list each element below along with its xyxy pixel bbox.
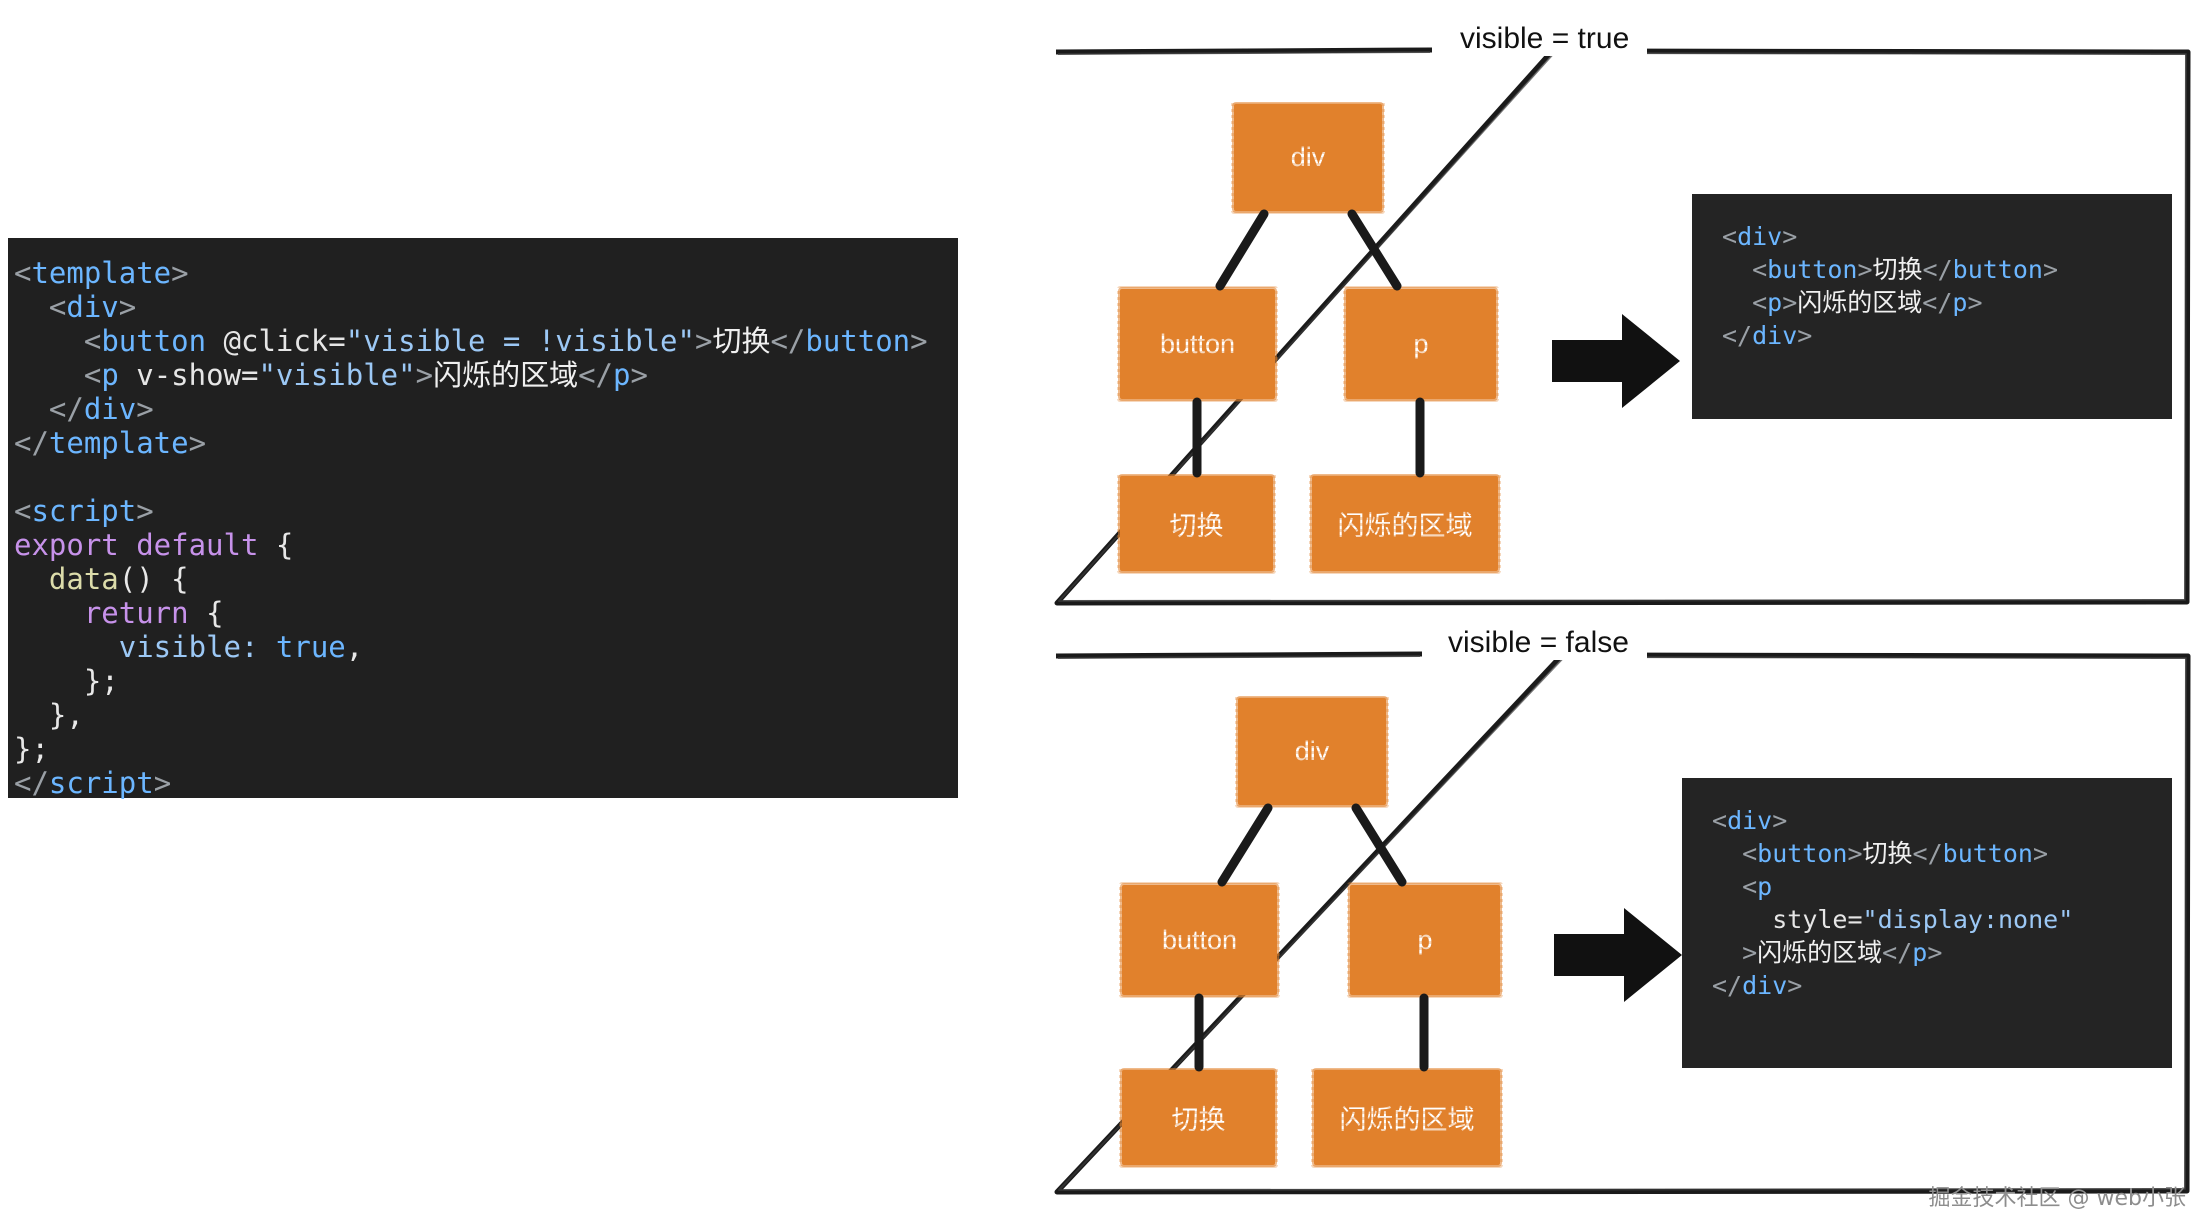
code-token: > <box>695 324 712 358</box>
code-token: "visible" <box>258 358 415 392</box>
code-token: < <box>1712 872 1757 901</box>
code-token: script <box>31 494 136 528</box>
source-code-block: <template> <div> <button @click="visible… <box>8 238 958 798</box>
code-token <box>14 562 49 596</box>
code-line: <div> <box>1712 804 2142 837</box>
code-token: > <box>119 290 136 324</box>
code-token: > <box>1967 288 1982 317</box>
tree-leaf-blink-true: 闪烁的区域 <box>1312 476 1498 571</box>
code-token: < <box>14 324 101 358</box>
code-line: <p>闪烁的区域</p> <box>1722 286 2142 319</box>
code-line: <p <box>1712 870 2142 903</box>
code-token: { <box>189 596 224 630</box>
code-line: }, <box>14 698 938 732</box>
code-token: </ <box>1722 321 1752 350</box>
code-token: template <box>31 256 171 290</box>
watermark: 掘金技术社区 @ web小张 <box>1929 1180 2186 1212</box>
code-token: > <box>1782 288 1797 317</box>
code-line: data() { <box>14 562 938 596</box>
code-token: 切换 <box>712 324 770 358</box>
code-token <box>119 358 136 392</box>
code-token: p <box>1767 288 1782 317</box>
code-token: data <box>49 562 119 596</box>
tree-node-button-true: button <box>1120 289 1275 399</box>
code-token: 切换 <box>1873 255 1923 284</box>
code-token: < <box>14 290 66 324</box>
code-token: }; <box>14 732 49 766</box>
code-token: return <box>84 596 189 630</box>
panel-legend-true: visible = true <box>1442 22 1647 56</box>
code-line: <button @click="visible = !visible">切换</… <box>14 324 938 358</box>
code-token: button <box>805 324 910 358</box>
code-token: > <box>136 494 153 528</box>
code-token: > <box>154 766 171 800</box>
code-token: > <box>1847 839 1862 868</box>
flow-arrow-true <box>1552 306 1682 416</box>
code-line: <button>切换</button> <box>1722 253 2142 286</box>
code-token: "display:none" <box>1863 905 2074 934</box>
code-token: > <box>1712 938 1757 967</box>
code-line: <button>切换</button> <box>1712 837 2142 870</box>
code-token: > <box>1782 222 1797 251</box>
code-line: </div> <box>14 392 938 426</box>
code-token: > <box>2033 839 2048 868</box>
code-token: < <box>14 494 31 528</box>
code-token: > <box>136 392 153 426</box>
code-line <box>14 460 938 494</box>
code-token <box>1712 905 1772 934</box>
result-code-true: <div> <button>切换</button> <p>闪烁的区域</p></… <box>1692 194 2172 419</box>
code-token: </ <box>770 324 805 358</box>
code-token: p <box>1757 872 1772 901</box>
panel-legend-false: visible = false <box>1430 626 1647 660</box>
code-token: script <box>49 766 154 800</box>
code-line: </template> <box>14 426 938 460</box>
code-token: button <box>101 324 206 358</box>
code-token: > <box>1927 938 1942 967</box>
code-line: >闪烁的区域</p> <box>1712 936 2142 969</box>
code-token: > <box>2043 255 2058 284</box>
code-token: div <box>84 392 136 426</box>
code-token: > <box>1857 255 1872 284</box>
code-line: </script> <box>14 766 938 800</box>
code-token: div <box>1742 971 1787 1000</box>
code-token: </ <box>1712 971 1742 1000</box>
code-token: }, <box>14 698 84 732</box>
code-token: 闪烁的区域 <box>1797 288 1922 317</box>
code-token: 切换 <box>1863 839 1913 868</box>
tree-node-p-true: p <box>1346 289 1496 399</box>
code-line: </div> <box>1722 319 2142 352</box>
code-token: button <box>1767 255 1857 284</box>
code-token: > <box>910 324 927 358</box>
code-line: export default { <box>14 528 938 562</box>
code-token: div <box>66 290 118 324</box>
code-token: true <box>276 630 346 664</box>
code-token <box>14 630 119 664</box>
code-token: </ <box>1923 255 1953 284</box>
code-token: </ <box>1913 839 1943 868</box>
code-token: < <box>14 256 31 290</box>
tree-leaf-toggle-false: 切换 <box>1122 1070 1275 1165</box>
code-token: visible: <box>119 630 259 664</box>
code-token: < <box>1712 839 1757 868</box>
code-token: > <box>416 358 433 392</box>
code-token: , <box>346 630 363 664</box>
code-token: < <box>1712 806 1727 835</box>
code-token: button <box>1757 839 1847 868</box>
code-line: }; <box>14 664 938 698</box>
code-token: > <box>630 358 647 392</box>
result-code-false: <div> <button>切换</button> <p style="disp… <box>1682 778 2172 1068</box>
code-token: < <box>1722 288 1767 317</box>
code-line: <div> <box>14 290 938 324</box>
code-token <box>14 596 84 630</box>
flow-arrow-false <box>1554 900 1684 1010</box>
code-token: < <box>1722 222 1737 251</box>
code-token: export default <box>14 528 258 562</box>
tree-node-root-false: div <box>1238 698 1386 805</box>
code-token: button <box>1953 255 2043 284</box>
code-line: <p v-show="visible">闪烁的区域</p> <box>14 358 938 392</box>
code-token: 闪烁的区域 <box>1757 938 1882 967</box>
tree-node-root-true: div <box>1234 104 1382 211</box>
code-token: </ <box>578 358 613 392</box>
panel-visible-false: visible = false div button p 切换 闪烁的区域 <d… <box>1052 650 2192 1195</box>
code-token: </ <box>14 392 84 426</box>
code-line: </div> <box>1712 969 2142 1002</box>
code-token: }; <box>14 664 119 698</box>
code-token: style= <box>1772 905 1862 934</box>
tree-node-p-false: p <box>1350 885 1500 995</box>
code-token: div <box>1737 222 1782 251</box>
code-token: > <box>1797 321 1812 350</box>
code-token: template <box>49 426 189 460</box>
code-token: > <box>1787 971 1802 1000</box>
code-token: button <box>1943 839 2033 868</box>
code-token <box>206 324 223 358</box>
code-token: > <box>189 426 206 460</box>
code-line: <div> <box>1722 220 2142 253</box>
code-token: { <box>258 528 293 562</box>
code-token: </ <box>14 766 49 800</box>
code-line: }; <box>14 732 938 766</box>
code-line: <template> <box>14 256 938 290</box>
code-token: p <box>101 358 118 392</box>
code-token: @click= <box>224 324 346 358</box>
code-token: </ <box>14 426 49 460</box>
code-token: "visible = !visible" <box>346 324 695 358</box>
code-line: style="display:none" <box>1712 903 2142 936</box>
code-line: <script> <box>14 494 938 528</box>
code-token: < <box>14 358 101 392</box>
tree-leaf-blink-false: 闪烁的区域 <box>1314 1070 1500 1165</box>
code-token: p <box>1912 938 1927 967</box>
code-token <box>258 630 275 664</box>
code-line: visible: true, <box>14 630 938 664</box>
code-token: p <box>1952 288 1967 317</box>
code-line: return { <box>14 596 938 630</box>
code-token: > <box>1772 806 1787 835</box>
tree-node-button-false: button <box>1122 885 1277 995</box>
code-token: div <box>1727 806 1772 835</box>
code-token: div <box>1752 321 1797 350</box>
code-token: > <box>171 256 188 290</box>
code-token: () { <box>119 562 189 596</box>
tree-leaf-toggle-true: 切换 <box>1120 476 1273 571</box>
code-token: </ <box>1922 288 1952 317</box>
code-token: v-show= <box>136 358 258 392</box>
panel-visible-true: visible = true div button p 切换 闪烁的区域 <di… <box>1052 46 2192 606</box>
code-token: p <box>613 358 630 392</box>
code-token: 闪烁的区域 <box>433 358 578 392</box>
code-token: < <box>1722 255 1767 284</box>
code-token: </ <box>1882 938 1912 967</box>
